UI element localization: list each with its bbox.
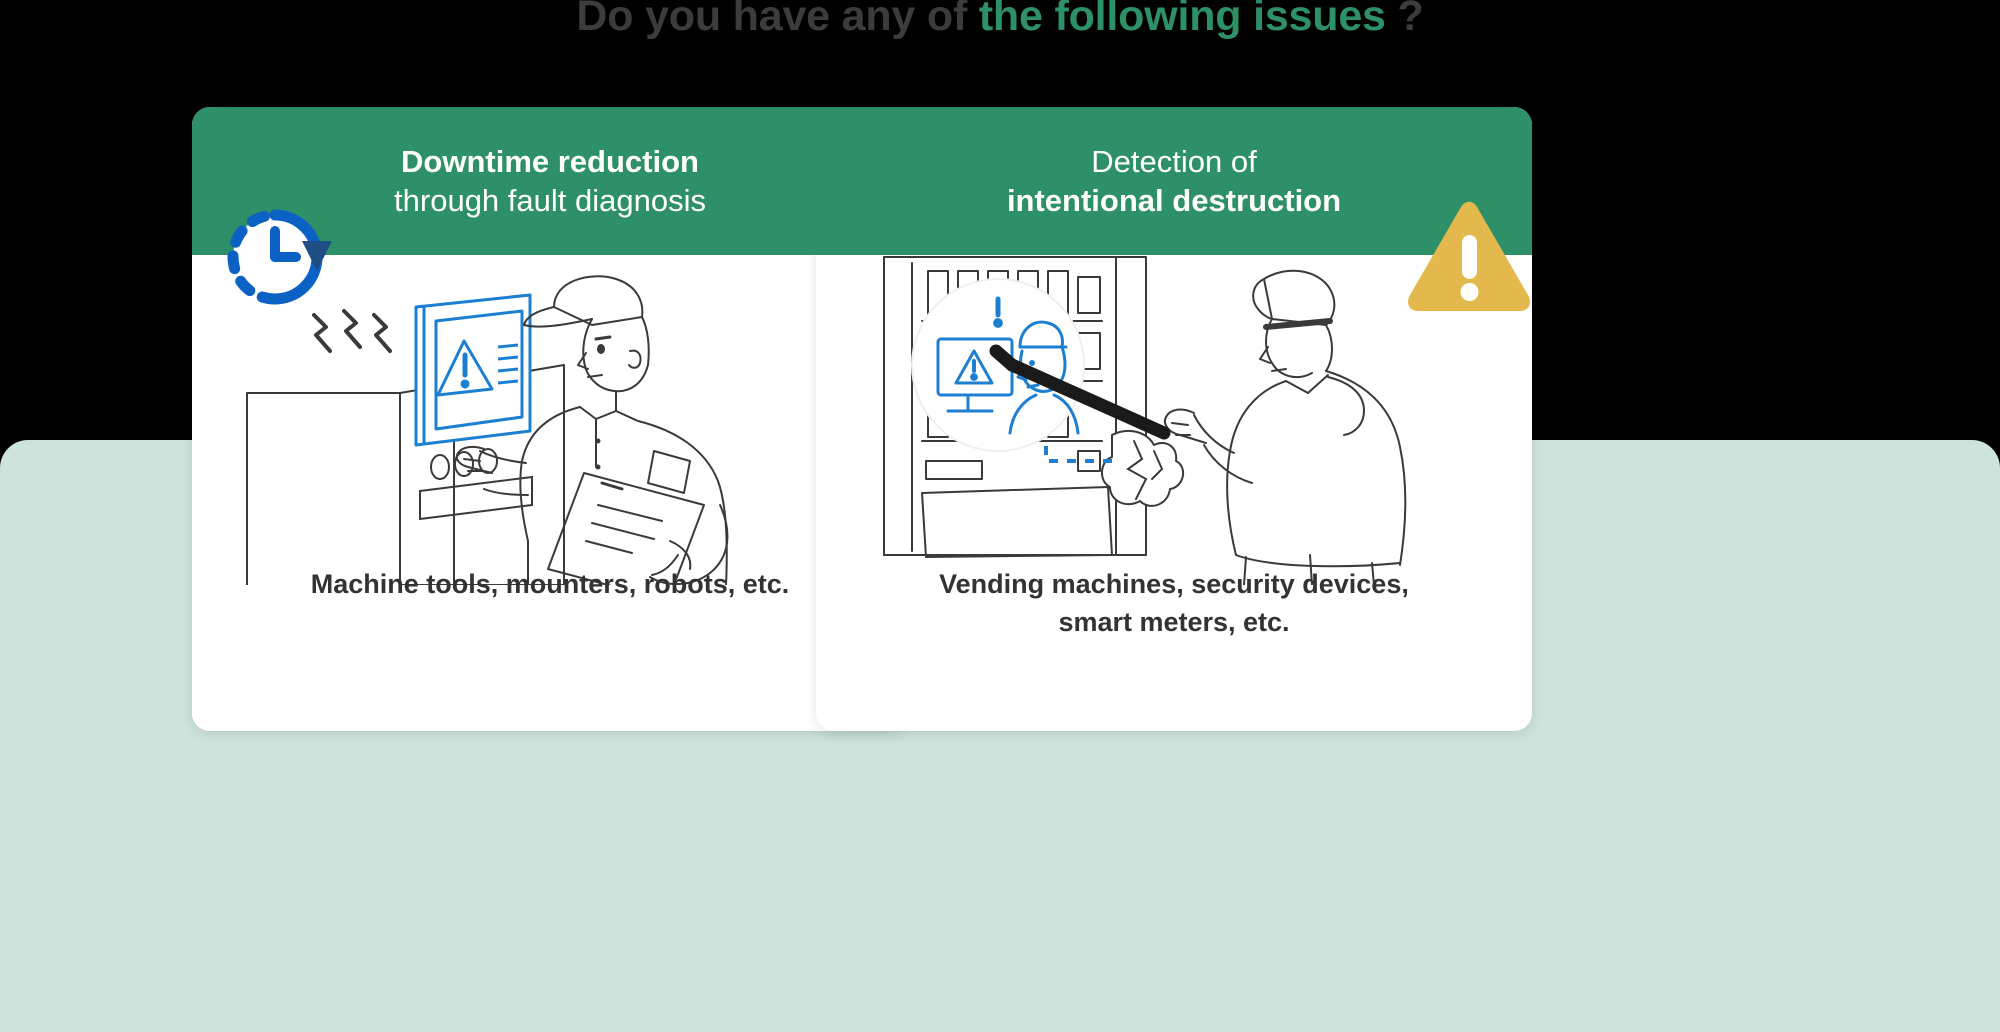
caption-line-1: Vending machines, security devices, bbox=[939, 569, 1409, 599]
card-title-line2: through fault diagnosis bbox=[394, 181, 706, 220]
issue-card-destruction[interactable]: Detection of intentional destruction bbox=[816, 107, 1532, 731]
card-caption-destruction: Vending machines, security devices, smar… bbox=[846, 565, 1502, 642]
card-body-downtime: Machine tools, mounters, robots, etc. bbox=[192, 255, 908, 731]
page-title: Do you have any of the following issues … bbox=[0, 0, 2000, 41]
page-root: Do you have any of the following issues … bbox=[0, 0, 2000, 1032]
caption-line-2: smart meters, etc. bbox=[1058, 607, 1289, 637]
warning-triangle-icon bbox=[1400, 195, 1538, 319]
issue-card-downtime[interactable]: Downtime reduction through fault diagnos… bbox=[192, 107, 908, 731]
clock-icon bbox=[220, 205, 338, 317]
page-title-prefix: Do you have any of bbox=[576, 0, 978, 40]
card-title-line2: intentional destruction bbox=[1007, 181, 1341, 220]
page-title-accent: the following issues bbox=[979, 0, 1386, 40]
page-title-suffix: ? bbox=[1386, 0, 1424, 40]
card-caption-downtime: Machine tools, mounters, robots, etc. bbox=[222, 565, 878, 603]
card-title-line1: Downtime reduction bbox=[401, 142, 699, 181]
card-title-line1: Detection of bbox=[1091, 142, 1256, 181]
card-body-destruction: Vending machines, security devices, smar… bbox=[816, 255, 1532, 731]
